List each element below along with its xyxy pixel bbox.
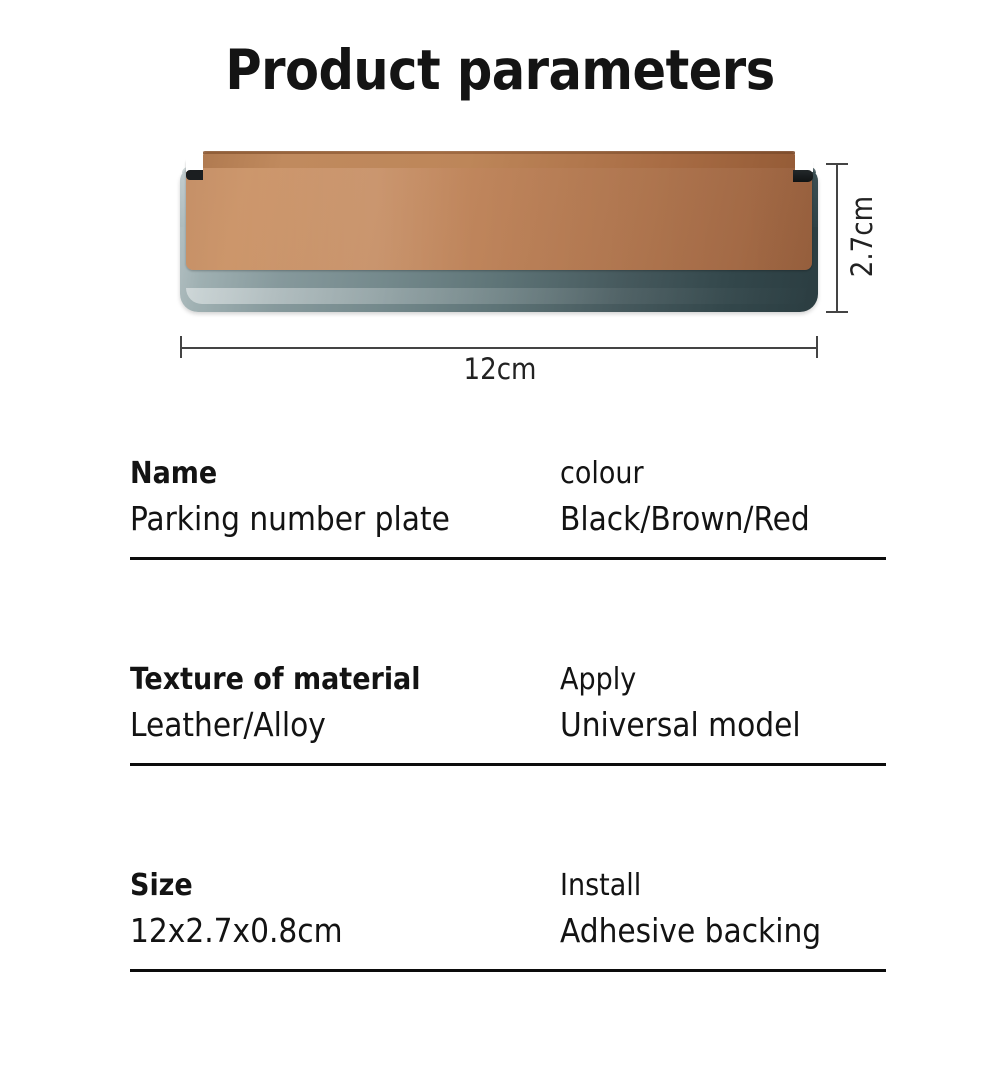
height-dimension-cap-bottom [826,311,848,313]
table-row: Texture of material Leather/Alloy Apply … [130,658,886,864]
plate-leather-top-edge [202,151,796,154]
spec-cell-size: Size 12x2.7x0.8cm [130,864,560,954]
spec-value: Parking number plate [130,496,560,542]
spec-table: Name Parking number plate colour Black/B… [130,452,886,1070]
spec-cell-texture-of-material: Texture of material Leather/Alloy [130,658,560,748]
row-divider [130,763,886,766]
row-divider [130,969,886,972]
plate-notch-right-shadow [793,170,813,182]
plate-leather-sheen [186,158,812,270]
spec-label: Texture of material [130,658,560,702]
spec-label: Apply [560,658,886,702]
spec-cell-colour: colour Black/Brown/Red [560,452,886,542]
plate-leather-lip [202,152,796,168]
spec-label: Install [560,864,886,908]
spec-value: Leather/Alloy [130,702,560,748]
spec-cell-install: Install Adhesive backing [560,864,886,954]
width-dimension-line [180,347,818,349]
spec-value: Adhesive backing [560,908,886,954]
spec-label: Name [130,452,560,496]
page-title: Product parameters [0,38,1000,102]
height-dimension-label: 2.7cm [845,196,879,277]
height-dimension-line [836,163,838,313]
spec-cell-apply: Apply Universal model [560,658,886,748]
spec-value: 12x2.7x0.8cm [130,908,560,954]
plate-notch-right [795,152,813,172]
table-row: Size 12x2.7x0.8cm Install Adhesive backi… [130,864,886,1070]
height-dimension-cap-top [826,163,848,165]
row-divider [130,557,886,560]
spec-label: colour [560,452,886,496]
width-dimension-label: 12cm [0,352,1000,386]
spec-value: Universal model [560,702,886,748]
plate-notch-left [186,152,203,172]
spec-cell-name: Name Parking number plate [130,452,560,542]
spec-value: Black/Brown/Red [560,496,886,542]
plate-notch-left-shadow [186,170,203,180]
table-row: Name Parking number plate colour Black/B… [130,452,886,658]
plate-body-highlight [186,288,812,304]
spec-label: Size [130,864,560,908]
